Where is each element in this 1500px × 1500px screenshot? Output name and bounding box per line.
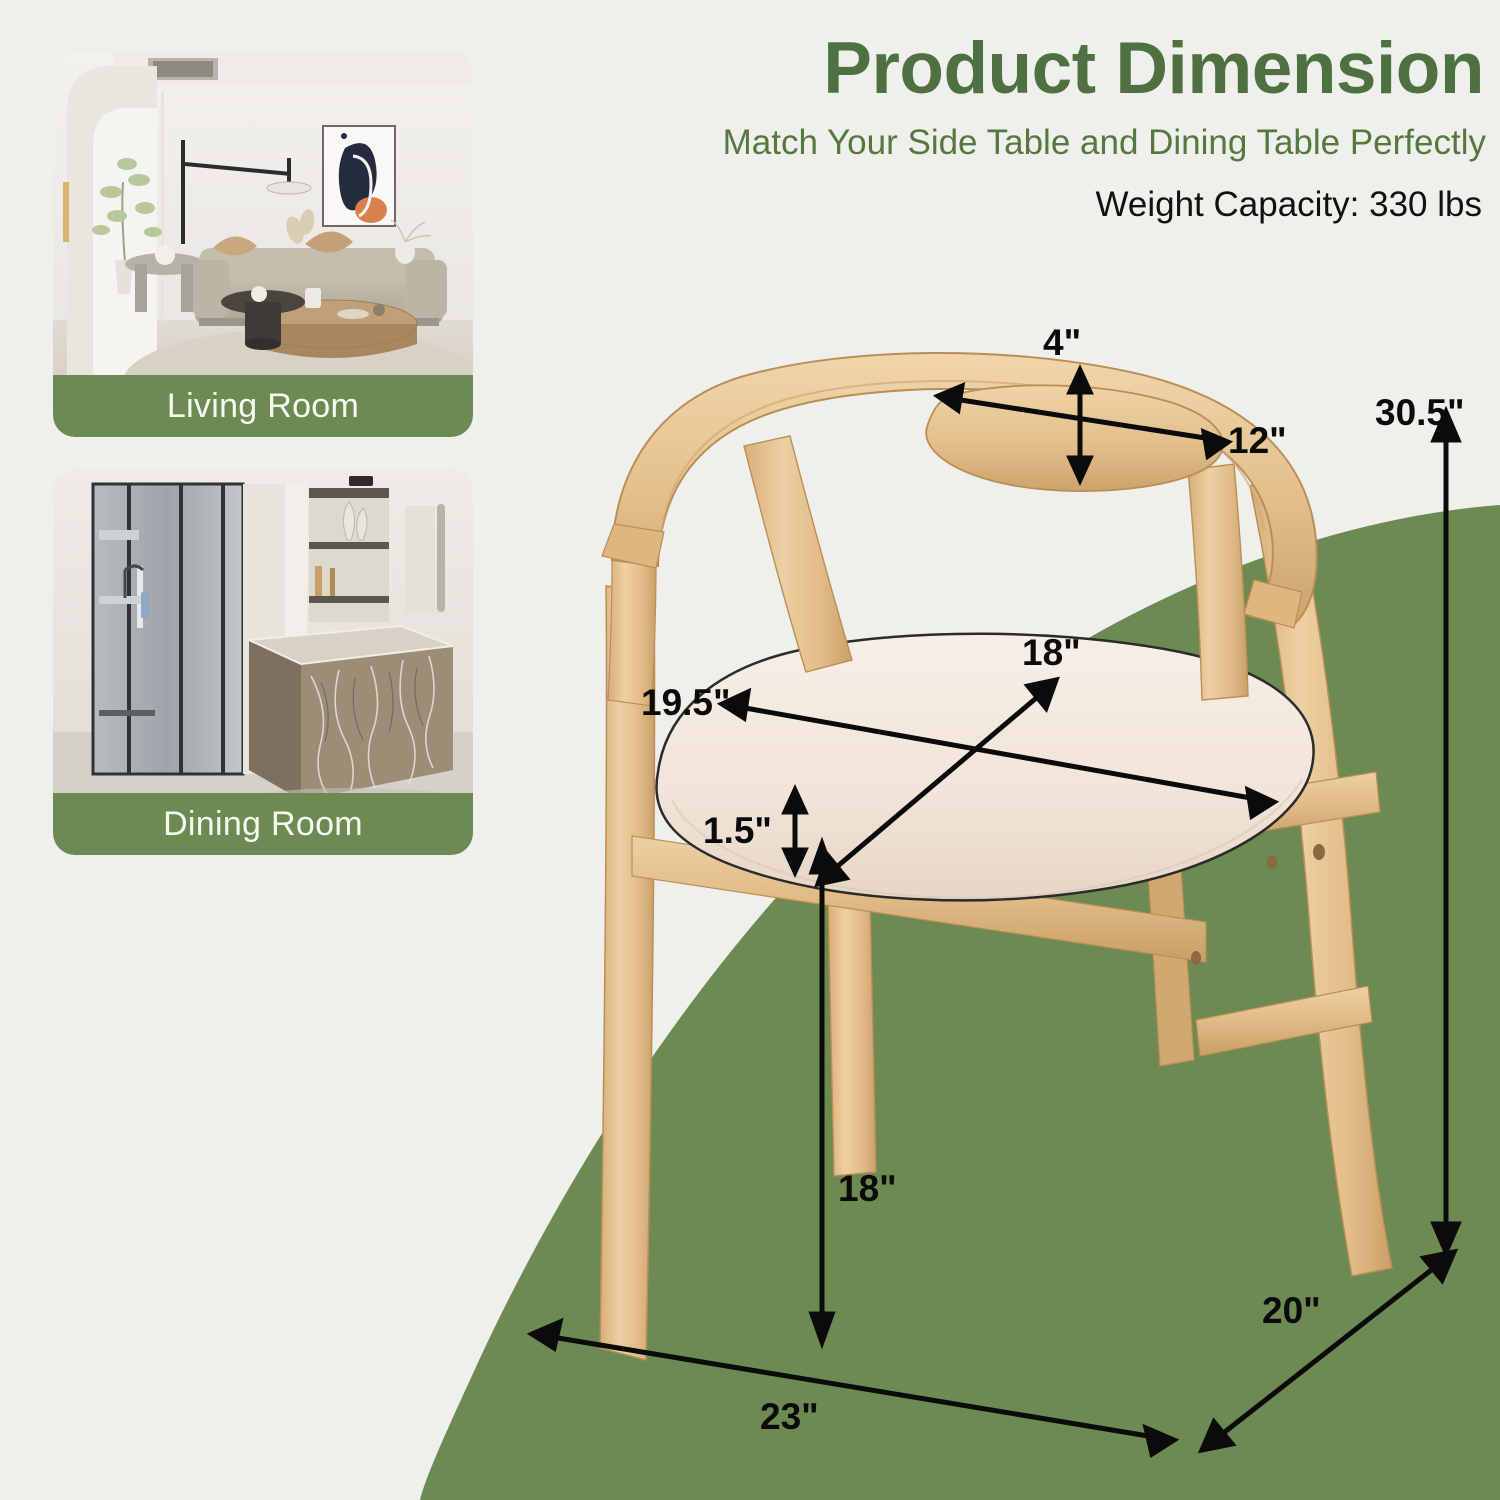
dimension-label-cushion-thickness: 1.5"	[703, 810, 772, 852]
screw-hole	[1267, 855, 1277, 869]
dimension-label-seat-depth: 18"	[1022, 632, 1081, 674]
infographic-canvas: Product Dimension Match Your Side Table …	[0, 0, 1500, 1500]
chair-illustration	[0, 0, 1500, 1500]
screw-hole	[1191, 951, 1201, 965]
chair-armrest-cap-left	[602, 524, 664, 568]
dimension-label-seat-width: 19.5"	[641, 682, 731, 724]
dimension-label-splat-height: 4"	[1043, 322, 1081, 364]
screw-hole	[1313, 844, 1325, 860]
chair-center-front-leg	[828, 896, 876, 1176]
dimension-label-splat-width: 12"	[1228, 420, 1287, 462]
dimension-label-overall-depth: 20"	[1262, 1290, 1321, 1332]
dimension-label-seat-height: 18"	[838, 1168, 897, 1210]
dimension-label-overall-height: 30.5"	[1375, 392, 1465, 434]
dimension-label-overall-width: 23"	[760, 1396, 819, 1438]
chair-back-strut	[744, 436, 852, 672]
